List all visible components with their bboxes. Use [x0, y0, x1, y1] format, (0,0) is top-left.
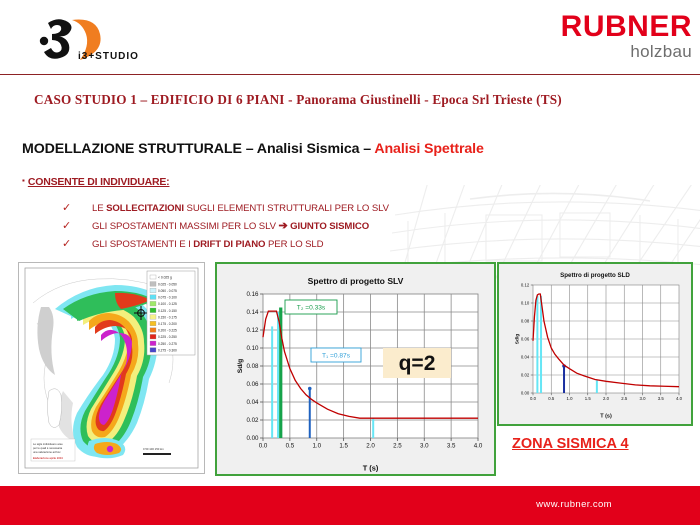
svg-text:0.5: 0.5	[286, 443, 295, 450]
svg-text:1.0: 1.0	[312, 443, 321, 450]
svg-text:0.225 - 0.250: 0.225 - 0.250	[158, 335, 177, 339]
svg-text:Sd/g: Sd/g	[237, 359, 244, 374]
svg-text:0.10: 0.10	[521, 301, 530, 306]
chart-slv-panel: Spettro di progetto SLV 0.00.51.01.52.02…	[215, 262, 496, 476]
svg-text:1.5: 1.5	[585, 396, 592, 401]
bullet-square-icon: ▪	[22, 176, 25, 185]
arrow-icon: ➔	[278, 220, 287, 232]
svg-text:0.16: 0.16	[246, 291, 259, 298]
svg-text:Sd/g: Sd/g	[514, 334, 520, 344]
svg-text:0.00: 0.00	[521, 391, 530, 396]
svg-text:T₁ =0.87s: T₁ =0.87s	[322, 352, 351, 359]
bullet-heading-label: CONSENTE DI INDIVIDUARE:	[28, 176, 170, 188]
svg-text:1.5: 1.5	[339, 443, 348, 450]
svg-text:0.06: 0.06	[246, 381, 259, 388]
list-item: ✓ GLI SPOSTAMENTI E I DRIFT DI PIANO PER…	[62, 237, 389, 255]
svg-text:0.150 - 0.175: 0.150 - 0.175	[158, 315, 177, 319]
svg-text:una valutazione ad hoc: una valutazione ad hoc	[33, 450, 61, 454]
svg-text:0.0: 0.0	[530, 396, 537, 401]
italy-seismic-hazard-map: < 0.025 g0.025 - 0.0500.050 - 0.0750.075…	[18, 262, 205, 474]
svg-text:0.06: 0.06	[521, 337, 530, 342]
svg-text:0.12: 0.12	[246, 327, 259, 334]
i3-studio-wordmark: i3+STUDIO	[78, 51, 139, 62]
svg-text:0.14: 0.14	[246, 309, 259, 316]
section-title-plain: MODELLAZIONE STRUTTURALE – Analisi Sismi…	[22, 141, 374, 157]
svg-text:0.0: 0.0	[259, 443, 268, 450]
svg-text:4.0: 4.0	[474, 443, 483, 450]
list-item: ✓ LE SOLLECITAZIONI SUGLI ELEMENTI STRUT…	[62, 201, 389, 219]
svg-text:0.02: 0.02	[521, 373, 530, 378]
svg-text:T₂ =0.33s: T₂ =0.33s	[297, 304, 326, 311]
bullet-heading: ▪CONSENTE DI INDIVIDUARE:	[22, 176, 169, 188]
svg-text:0.050 - 0.075: 0.050 - 0.075	[158, 289, 177, 293]
svg-text:< 0.025 g: < 0.025 g	[158, 276, 172, 280]
svg-text:T (s): T (s)	[363, 464, 379, 473]
svg-text:3.0: 3.0	[420, 443, 429, 450]
rubner-wordmark: RUBNER	[561, 12, 692, 42]
website-link[interactable]: www.rubner.com	[536, 499, 612, 510]
svg-text:3.5: 3.5	[658, 396, 665, 401]
rubner-logo: RUBNER holzbau	[561, 12, 692, 62]
svg-text:0.5: 0.5	[548, 396, 555, 401]
svg-text:0.04: 0.04	[246, 399, 259, 406]
check-icon: ✓	[62, 201, 92, 214]
list-item: ✓ GLI SPOSTAMENTI MASSIMI PER LO SLV ➔ G…	[62, 219, 389, 237]
svg-text:0.08: 0.08	[246, 363, 259, 370]
list-item-text: GLI SPOSTAMENTI E I DRIFT DI PIANO PER L…	[92, 239, 324, 250]
svg-text:1.0: 1.0	[567, 396, 574, 401]
slide: i3+STUDIO RUBNER holzbau CASO STUDIO 1 –…	[0, 0, 700, 525]
section-title-accent: Analisi Spettrale	[374, 141, 483, 157]
svg-text:2.0: 2.0	[366, 443, 375, 450]
footer-bar: www.rubner.com	[0, 486, 700, 525]
svg-text:per le quali è necessaria: per le quali è necessaria	[33, 446, 63, 450]
chart-sld-panel: Spettro di progetto SLD 0.00.51.01.52.02…	[497, 262, 693, 426]
list-item-text: LE SOLLECITAZIONI SUGLI ELEMENTI STRUTTU…	[92, 203, 389, 214]
svg-text:3.5: 3.5	[447, 443, 456, 450]
svg-text:0.275 - 0.300: 0.275 - 0.300	[158, 348, 177, 352]
zona-sismica-label: ZONA SISMICA 4	[512, 436, 629, 452]
svg-text:0.025 - 0.050: 0.025 - 0.050	[158, 282, 177, 286]
svg-text:0 50 100 150 km: 0 50 100 150 km	[143, 447, 165, 451]
svg-text:Le sigle individuano aree: Le sigle individuano aree	[33, 442, 63, 446]
i3-studio-logo: i3+STUDIO	[28, 14, 158, 66]
section-title: MODELLAZIONE STRUTTURALE – Analisi Sismi…	[22, 141, 484, 157]
svg-text:0.12: 0.12	[521, 283, 530, 288]
svg-text:0.10: 0.10	[246, 345, 259, 352]
svg-text:0.075 - 0.100: 0.075 - 0.100	[158, 296, 177, 300]
checklist: ✓ LE SOLLECITAZIONI SUGLI ELEMENTI STRUT…	[62, 201, 389, 255]
svg-text:2.0: 2.0	[603, 396, 610, 401]
list-item-text: GLI SPOSTAMENTI MASSIMI PER LO SLV ➔ GIU…	[92, 219, 369, 232]
svg-text:0.200 - 0.225: 0.200 - 0.225	[158, 329, 177, 333]
chart-slv-title: Spettro di progetto SLV	[217, 264, 494, 286]
rubner-tagline: holzbau	[561, 43, 692, 62]
svg-text:3.0: 3.0	[640, 396, 647, 401]
svg-text:0.04: 0.04	[521, 355, 530, 360]
case-study-title: CASO STUDIO 1 – EDIFICIO DI 6 PIANI - Pa…	[34, 92, 562, 108]
svg-text:4.0: 4.0	[676, 396, 683, 401]
svg-text:0.02: 0.02	[246, 417, 259, 424]
chart-sld-title: Spettro di progetto SLD	[499, 264, 691, 279]
svg-text:0.175 - 0.200: 0.175 - 0.200	[158, 322, 177, 326]
svg-text:0.125 - 0.150: 0.125 - 0.150	[158, 309, 177, 313]
svg-text:0.08: 0.08	[521, 319, 530, 324]
svg-text:Elaborazione aprile 2004: Elaborazione aprile 2004	[33, 456, 63, 460]
svg-text:T (s): T (s)	[600, 414, 612, 420]
svg-text:2.5: 2.5	[393, 443, 402, 450]
svg-text:0.250 - 0.275: 0.250 - 0.275	[158, 342, 177, 346]
check-icon: ✓	[62, 237, 92, 250]
svg-text:q=2: q=2	[399, 352, 436, 375]
svg-text:2.5: 2.5	[621, 396, 628, 401]
svg-text:0.100 - 0.125: 0.100 - 0.125	[158, 302, 177, 306]
check-icon: ✓	[62, 219, 92, 232]
header-divider	[0, 74, 700, 75]
svg-text:0.00: 0.00	[246, 435, 259, 442]
